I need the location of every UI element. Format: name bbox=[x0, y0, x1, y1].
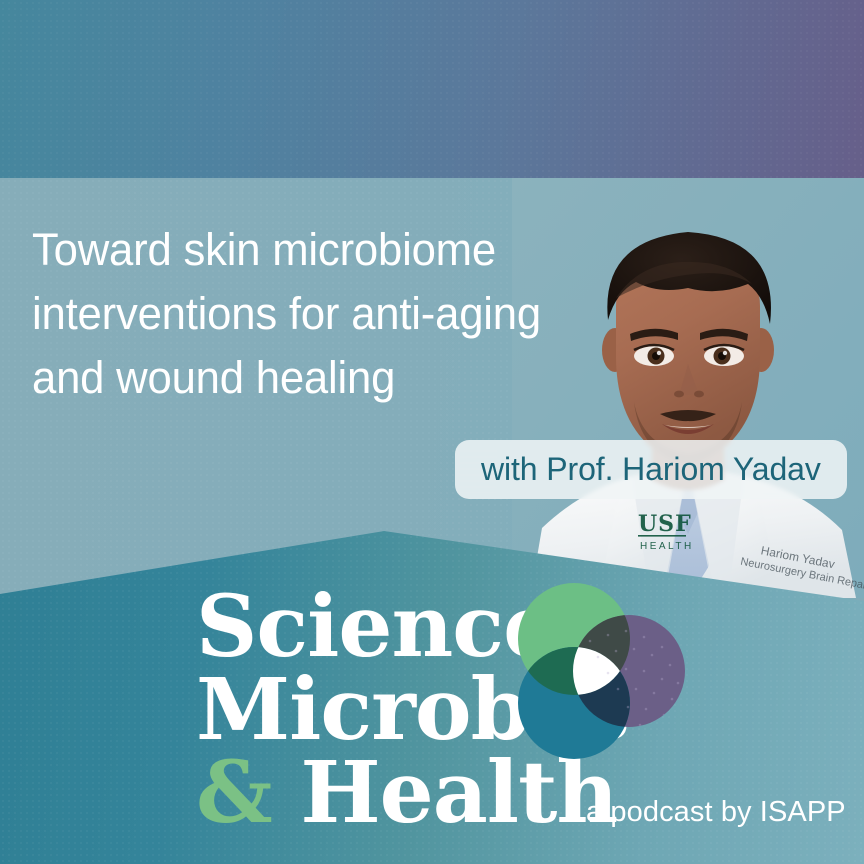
guest-name-badge: with Prof. Hariom Yadav bbox=[455, 440, 847, 499]
guest-name-label: with Prof. Hariom Yadav bbox=[481, 451, 821, 488]
isapp-venn-play-logo bbox=[512, 583, 688, 759]
series-header-band bbox=[0, 0, 864, 178]
podcast-byline: a podcast by ISAPP bbox=[586, 796, 846, 829]
svg-text:USF: USF bbox=[638, 511, 692, 537]
usf-health-coat-logo: USF HEALTH bbox=[638, 511, 694, 552]
brand-ampersand: & bbox=[196, 743, 272, 843]
episode-title: Toward skin microbiome interventions for… bbox=[32, 218, 575, 410]
svg-text:HEALTH: HEALTH bbox=[640, 541, 694, 552]
brand-line-health: & Health bbox=[196, 751, 617, 836]
podcast-cover-art: The skin microbiome and health series bbox=[0, 0, 864, 864]
